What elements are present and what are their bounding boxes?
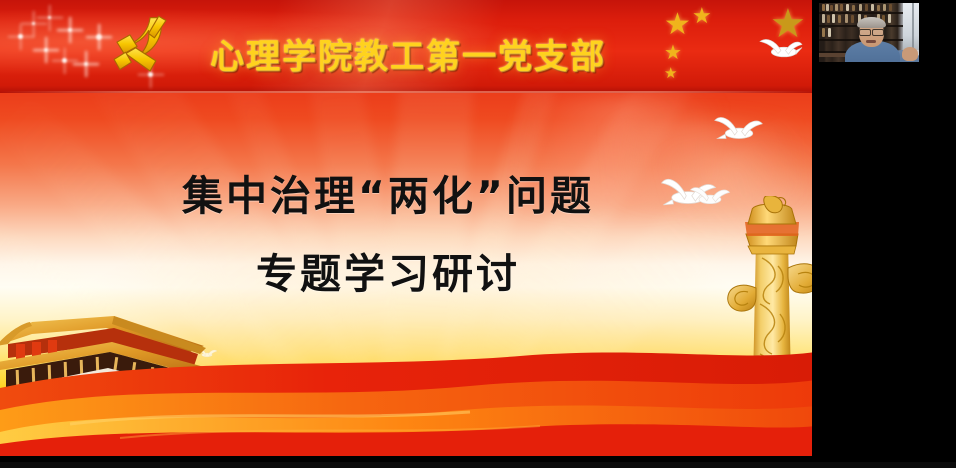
participant-mouth xyxy=(866,40,876,43)
book xyxy=(859,4,862,11)
book xyxy=(835,4,838,11)
screen-share-view: ★ ★ ★ ★ ★ 心理学院教工第一党支部 xyxy=(0,0,956,468)
book xyxy=(852,5,855,11)
glasses-lens-left xyxy=(859,29,871,36)
book xyxy=(846,4,849,11)
book xyxy=(845,14,848,23)
bottom-black-bar-inner xyxy=(0,462,956,468)
glasses-lens-right xyxy=(872,29,884,36)
book xyxy=(822,4,825,11)
tiananmen-gate-illustration xyxy=(0,300,324,450)
sparkle-5 xyxy=(48,16,51,19)
book xyxy=(827,15,830,24)
sparkle-1 xyxy=(18,34,23,39)
right-black-panel xyxy=(816,0,956,468)
presentation-slide: ★ ★ ★ ★ ★ 心理学院教工第一党支部 xyxy=(0,0,816,456)
book xyxy=(871,4,874,11)
flag-star-upper: ★ xyxy=(692,6,712,28)
flag-star-large: ★ xyxy=(664,10,691,40)
flag-star-corner: ★ xyxy=(770,4,806,44)
sparkle-3 xyxy=(32,22,35,25)
book xyxy=(826,4,829,11)
participant-hair xyxy=(857,17,886,28)
sparkle-6 xyxy=(68,28,72,32)
book xyxy=(830,5,833,11)
slide-title-line-2: 专题学习研讨 xyxy=(0,240,796,300)
book xyxy=(851,15,854,23)
book xyxy=(889,4,892,11)
participant-hand xyxy=(902,47,918,60)
book xyxy=(832,14,835,24)
book xyxy=(822,14,825,23)
book xyxy=(822,28,825,38)
huabiao-ornamental-column xyxy=(726,196,816,432)
book xyxy=(877,5,880,11)
book xyxy=(883,4,886,11)
book xyxy=(840,4,843,11)
header-band-bottom-edge xyxy=(0,91,816,93)
participant-glasses xyxy=(859,29,885,34)
window-frame xyxy=(912,2,914,50)
page-title: 心理学院教工第一党支部 xyxy=(0,40,816,74)
book xyxy=(865,4,868,11)
book xyxy=(888,14,891,23)
slide-title-line-1: 集中治理“两化”问题 xyxy=(0,162,796,222)
book xyxy=(828,28,831,37)
book xyxy=(838,15,841,24)
participant-video-thumbnail[interactable] xyxy=(818,2,920,63)
